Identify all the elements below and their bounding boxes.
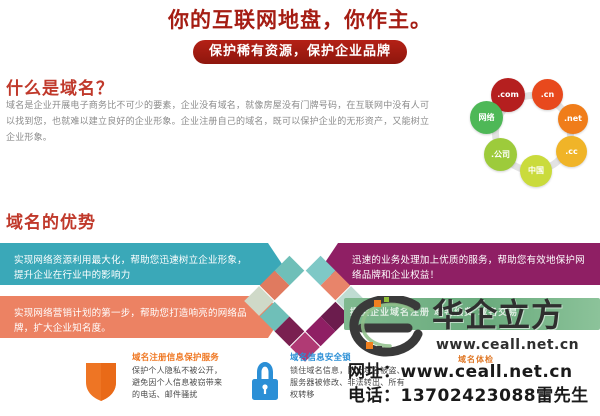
feature-line-3: 的电话、邮件骚扰	[132, 389, 250, 401]
bubble-cc: .cc	[556, 136, 587, 167]
feature-title: 域名注册信息保护服务	[132, 352, 250, 364]
feature-line-1: 锁住域名信息，防止域名被盗、	[290, 365, 410, 377]
advantage-box-3: 实现网络营销计划的第一步，帮助您打造响亮的网络品牌，扩大企业知名度。	[0, 296, 268, 338]
page-title: 你的互联网地盘，你作主。	[0, 6, 600, 34]
section-what-body: 域名是企业开展电子商务比不可少的要素，企业没有域名，就像房屋没有门牌号码，在互联…	[6, 98, 436, 146]
bubble-net: .net	[558, 104, 588, 134]
landing-page: 你的互联网地盘，你作主。 保护稀有资源，保护企业品牌 什么是域名？ 域名是企业开…	[0, 0, 600, 416]
bubble-cn: .cn	[532, 79, 563, 110]
feature-line-1: 保护个人隐私不被公开，	[132, 365, 250, 377]
watermark-band-text: 提供企业域名注册 域名续费 域名交易	[350, 305, 518, 318]
section-what-title: 什么是域名？	[6, 74, 114, 99]
hero-subtitle-badge: 保护稀有资源，保护企业品牌	[193, 40, 407, 64]
domain-circle-diagram: .com .cn .net .cc 中国 .公司 网络	[470, 78, 596, 194]
feature-line-2: 服务器被修改、非法转出、所有	[290, 377, 410, 389]
contact-website-value: www.ceall.net.cn	[401, 362, 573, 382]
feature-domain-privacy: 域名注册信息保护服务 保护个人隐私不被公开， 避免因个人信息被窃带来 的电话、邮…	[132, 352, 250, 401]
watermark-check-label: 域名体检	[458, 354, 494, 365]
bubble-zhongguo: 中国	[520, 155, 552, 187]
shield-icon	[83, 360, 119, 402]
watermark-brand-name: 华企立方	[432, 296, 564, 334]
contact-person: 雷先生	[536, 386, 589, 406]
hero-subtitle-wrap: 保护稀有资源，保护企业品牌	[0, 40, 600, 64]
feature-title: 域名信息安全锁	[290, 352, 410, 364]
feature-line-2: 避免因个人信息被窃带来	[132, 377, 250, 389]
advantage-box-1: 实现网络资源利用最大化，帮助您迅速树立企业形象，提升企业在行业中的影响力	[0, 243, 268, 285]
lock-icon	[247, 359, 283, 403]
contact-phone-value: 13702423088	[401, 386, 537, 406]
watermark-url: www.ceall.net.cn	[436, 337, 579, 353]
section-advantage-title: 域名的优势	[6, 208, 96, 233]
watermark-band	[344, 298, 600, 330]
feature-line-3: 权转移	[290, 389, 410, 401]
advantage-box-2: 迅速的业务处理加上优质的服务，帮助您有效地保护网络品牌和企业权益！	[338, 243, 600, 285]
bubble-wangluo: 网络	[470, 101, 503, 134]
hero-banner: 你的互联网地盘，你作主。 保护稀有资源，保护企业品牌	[0, 0, 600, 70]
bubble-gongsi: .公司	[484, 138, 517, 171]
feature-domain-lock: 域名信息安全锁 锁住域名信息，防止域名被盗、 服务器被修改、非法转出、所有 权转…	[290, 352, 410, 401]
